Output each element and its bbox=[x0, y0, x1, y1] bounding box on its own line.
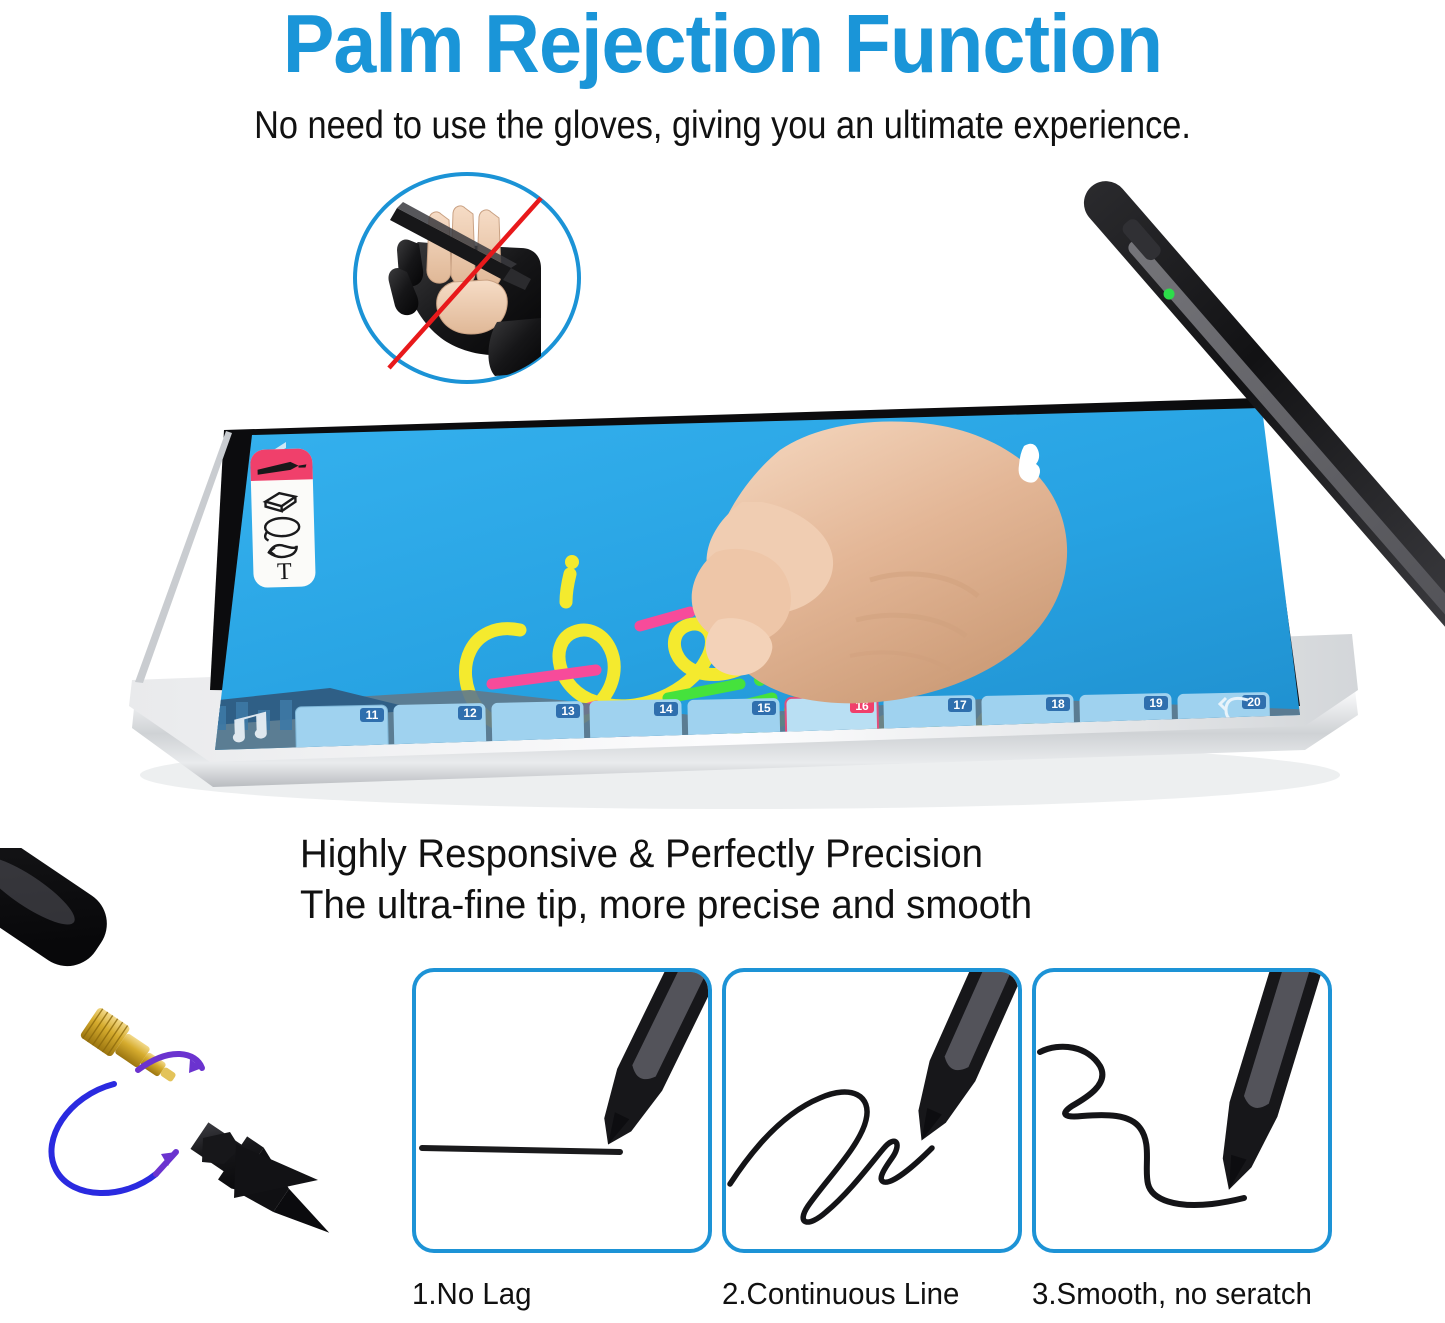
demo-box-3 bbox=[1032, 968, 1332, 1253]
feature-line-2: The ultra-fine tip, more precise and smo… bbox=[300, 880, 1032, 931]
svg-text:19: 19 bbox=[1149, 696, 1163, 710]
demo-no-lag: 1.No Lag bbox=[412, 968, 712, 1312]
stylus-tip-illustration bbox=[899, 972, 1018, 1151]
demo-box-1 bbox=[412, 968, 712, 1253]
feature-line-1: Highly Responsive & Perfectly Precision bbox=[300, 829, 1032, 880]
stylus-tip-illustration bbox=[1205, 972, 1328, 1197]
replaceable-tip-diagram bbox=[0, 848, 388, 1268]
demo-caption-3: 3.Smooth, no seratch bbox=[1032, 1276, 1317, 1312]
demo-smooth: 3.Smooth, no seratch bbox=[1032, 968, 1332, 1312]
feature-description: Highly Responsive & Perfectly Precision … bbox=[300, 829, 1032, 931]
zigzag-stroke bbox=[730, 1092, 932, 1222]
stylus-tip-illustration bbox=[586, 972, 708, 1156]
straight-line-stroke bbox=[422, 1148, 620, 1152]
demo-grid: 1.No Lag 2.Continuous Line bbox=[412, 968, 1342, 1323]
svg-text:12: 12 bbox=[463, 706, 477, 720]
svg-text:13: 13 bbox=[561, 704, 575, 718]
svg-text:20: 20 bbox=[1247, 695, 1261, 709]
svg-text:18: 18 bbox=[1051, 697, 1065, 711]
tablet-with-stylus-scene: 11 12 13 14 15 16 17 18 19 20 bbox=[0, 150, 1445, 830]
svg-text:14: 14 bbox=[659, 702, 673, 716]
svg-text:15: 15 bbox=[757, 701, 771, 715]
page-title: Palm Rejection Function bbox=[51, 0, 1395, 90]
tool-palette: T bbox=[250, 448, 316, 588]
page-subtitle: No need to use the gloves, giving you an… bbox=[87, 103, 1359, 149]
demo-continuous-line: 2.Continuous Line bbox=[722, 968, 1022, 1312]
svg-text:11: 11 bbox=[366, 708, 379, 722]
rotate-to-replace-arrow bbox=[51, 1054, 202, 1193]
brass-threaded-connector bbox=[79, 1006, 184, 1093]
demo-caption-2: 2.Continuous Line bbox=[722, 1276, 1007, 1312]
smooth-wave-stroke bbox=[1040, 1047, 1244, 1205]
demo-caption-1: 1.No Lag bbox=[412, 1276, 697, 1312]
text-tool-icon: T bbox=[277, 559, 293, 585]
svg-text:17: 17 bbox=[953, 698, 967, 712]
demo-box-2 bbox=[722, 968, 1022, 1253]
